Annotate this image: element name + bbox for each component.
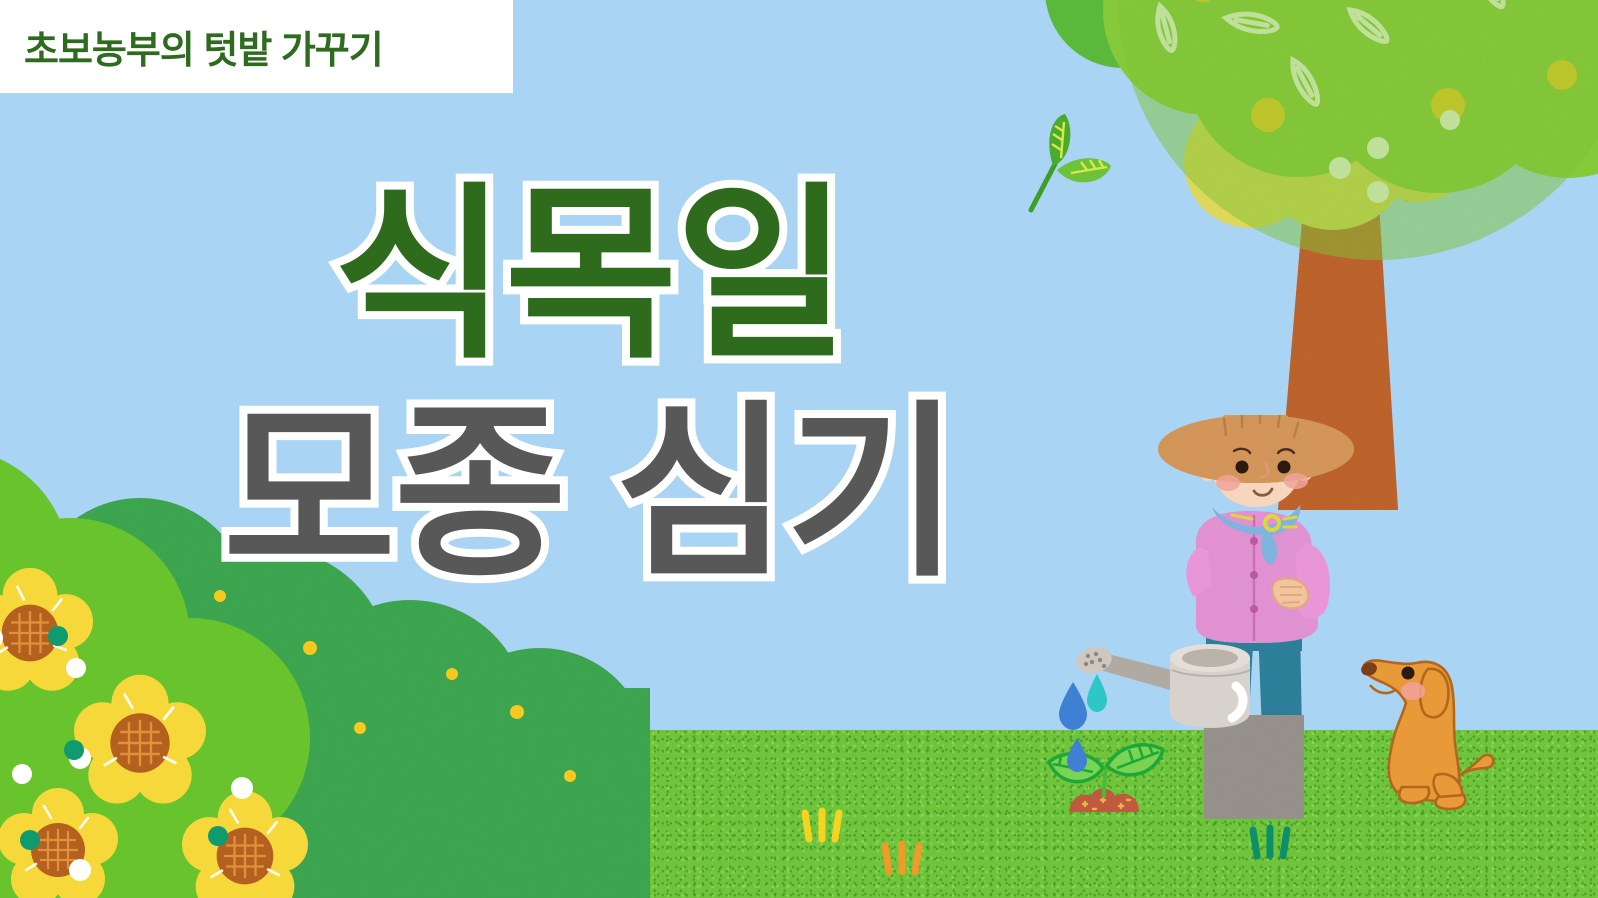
title-line-1: 식목일	[0, 178, 1180, 374]
farmer-hand	[1272, 579, 1308, 609]
dog-tail	[1460, 755, 1493, 775]
grass-tuft-yellow	[800, 805, 846, 845]
farmer-arm-right	[1296, 543, 1330, 619]
dog-cheek	[1401, 682, 1425, 700]
poster-canvas: 초보농부의 텃밭 가꾸기 식목일 모종 심기	[0, 0, 1598, 898]
watering-can	[1060, 608, 1250, 718]
watering-can-body	[1170, 644, 1250, 728]
water-drop-3	[1067, 738, 1087, 772]
header-badge-label: 초보농부의 텃밭 가꾸기	[24, 19, 383, 74]
dog-eye	[1402, 667, 1415, 680]
sprout-leaf-left	[1049, 114, 1070, 166]
poster-title: 식목일 모종 심기	[0, 178, 1180, 591]
title-line-2: 모종 심기	[0, 396, 1180, 592]
grass-tuft-orange	[880, 838, 926, 878]
header-badge: 초보농부의 텃밭 가꾸기	[0, 0, 513, 93]
tree-grain	[1118, 0, 1598, 260]
farmer-boots	[1204, 715, 1304, 819]
farmer-straw-hat	[1158, 415, 1354, 483]
